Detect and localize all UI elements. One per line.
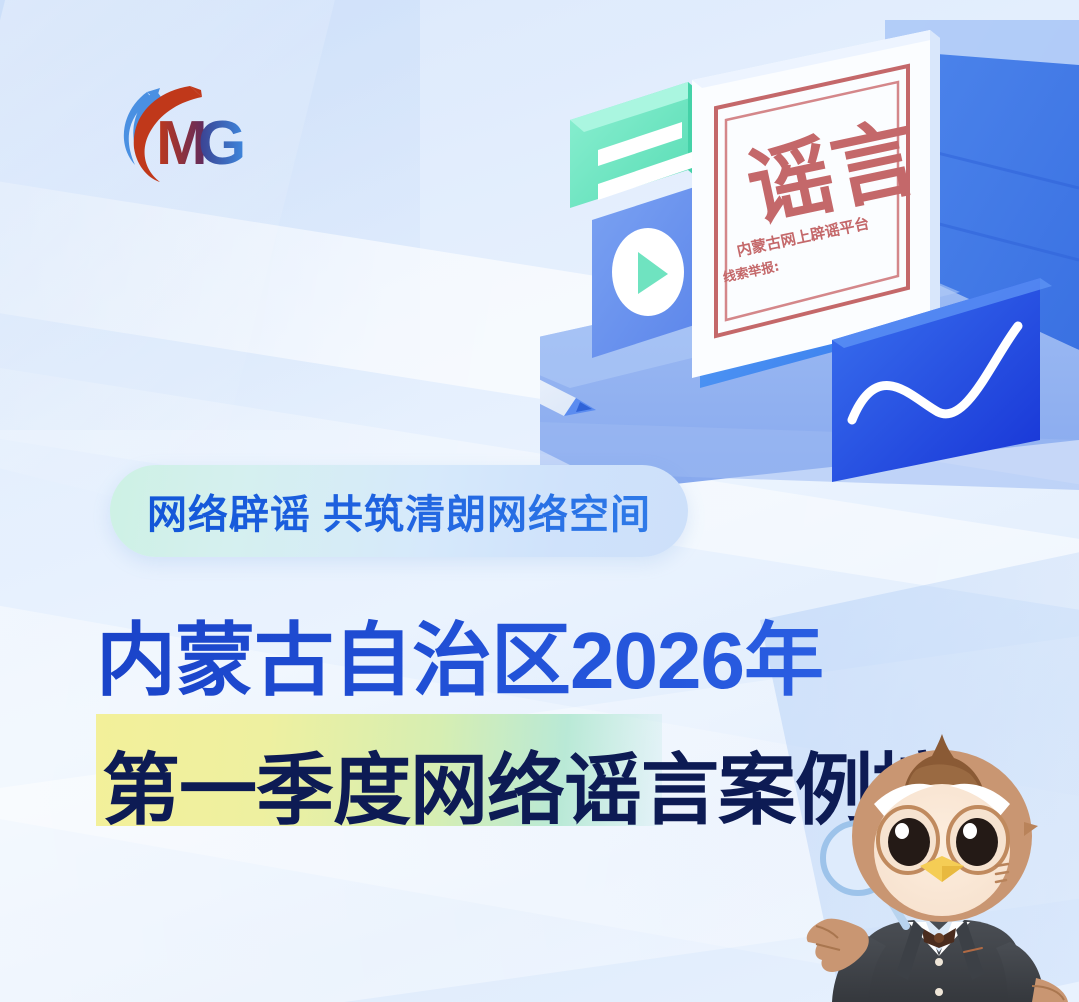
- mg-logo: M G: [98, 66, 278, 206]
- slogan-pill: 网络辟谣 共筑清朗网络空间: [110, 465, 688, 557]
- mascot-head: [852, 734, 1038, 922]
- background-tint-topleft: [0, 0, 420, 430]
- headline-line-1: 内蒙古自治区2026年: [96, 596, 823, 712]
- headline-line-2-wrapper: 第一季度网络谣言案例榜: [96, 714, 662, 826]
- rumor-ranking-poster: 谣言 内蒙古网上辟谣平台 线索举报: M G: [0, 0, 1079, 1002]
- mint-message-card: [570, 82, 702, 208]
- slogan-text: 网络辟谣 共筑清朗网络空间: [147, 482, 651, 540]
- mascot-suit: [858, 916, 1020, 1002]
- sparrow-detective-mascot: [796, 730, 1079, 1002]
- logo-letter-g: G: [198, 109, 246, 178]
